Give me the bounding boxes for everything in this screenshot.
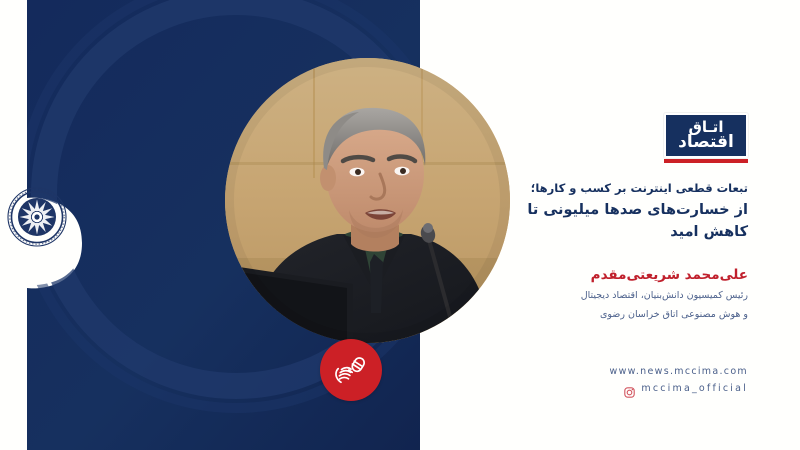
chamber-of-commerce-emblem — [6, 186, 68, 248]
publication-logo[interactable]: اتـاق اقتصاد — [664, 113, 748, 163]
instagram-icon — [624, 383, 635, 394]
headline: تبعات قطعی اینترنت بر کسب و کارها؛ از خس… — [498, 180, 748, 243]
speaker-role-line-1: رئیس کمیسیون دانش‌بنیان، اقتصاد دیجیتال — [498, 288, 748, 304]
speaker-block: علی‌محمد شریعتی‌مقدم رئیس کمیسیون دانش‌ب… — [498, 265, 748, 324]
speaker-role-line-2: و هوش مصنوعی اتاق خراسان رضوی — [498, 307, 748, 323]
logo-box: اتـاق اقتصاد — [664, 113, 748, 158]
logo-accent-rule — [664, 159, 748, 163]
speaker-name: علی‌محمد شریعتی‌مقدم — [498, 265, 748, 285]
headline-kicker: تبعات قطعی اینترنت بر کسب و کارها؛ — [498, 180, 748, 198]
logo-line-2: اقتصاد — [678, 134, 734, 151]
website-url[interactable]: www.news.mccima.com — [498, 364, 748, 381]
footer-links: www.news.mccima.com mccima_official — [498, 364, 748, 394]
instagram-link[interactable]: mccima_official — [498, 383, 748, 394]
speaker-portrait — [225, 58, 510, 343]
hand-holding-microphone-badge — [320, 339, 382, 401]
instagram-handle: mccima_official — [641, 383, 748, 394]
hand-holding-microphone-icon — [332, 351, 370, 389]
headline-main: از خسارت‌های صدها میلیونی تا کاهش امید — [498, 200, 748, 244]
poster-canvas: اتـاق اقتصاد تبعات قطعی اینترنت بر کسب و… — [0, 0, 800, 450]
